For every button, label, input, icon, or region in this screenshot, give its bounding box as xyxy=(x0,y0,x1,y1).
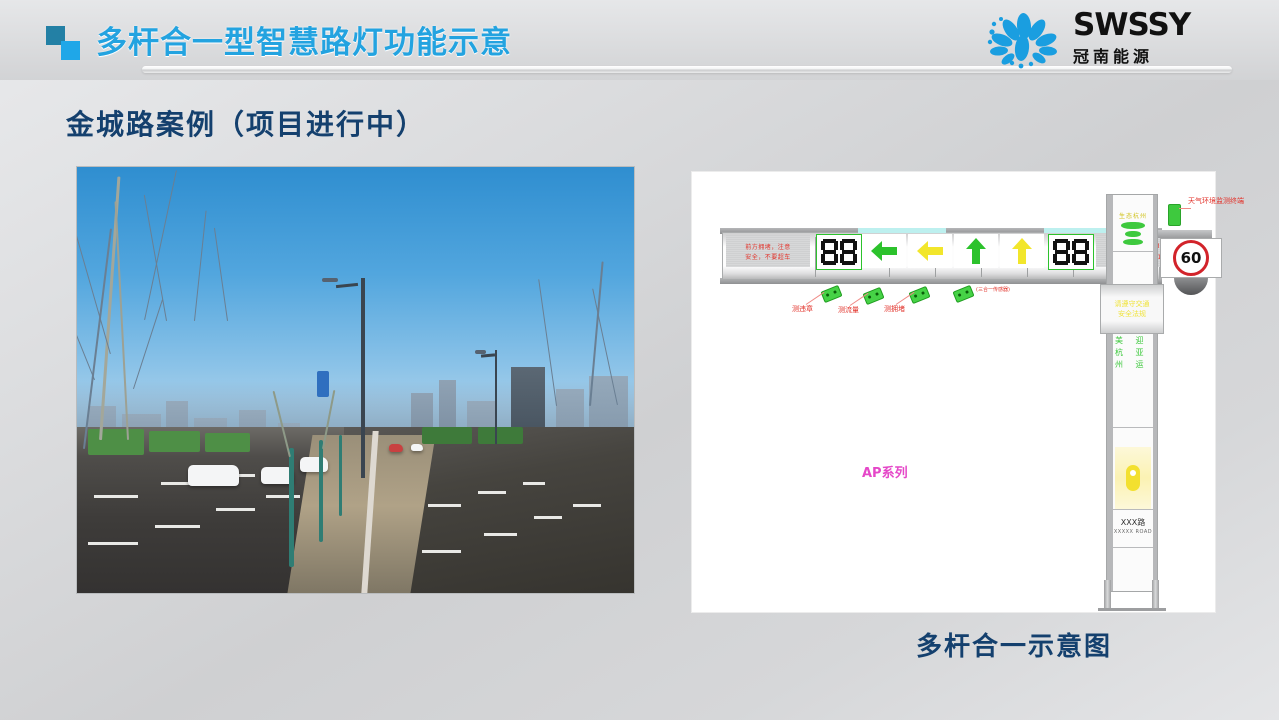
dome-camera-icon xyxy=(1174,278,1208,295)
digit-8 xyxy=(1053,239,1070,265)
multi-pole-diagram: 前方拥堵，注意 安全，不要超车 xyxy=(692,172,1215,612)
far-car-2 xyxy=(411,444,423,451)
eco-graphic xyxy=(1121,222,1145,229)
traffic-notice-line2: 安全法规 xyxy=(1118,309,1146,319)
eco-banner-title: 生态杭州 xyxy=(1119,211,1147,220)
arrow-up-green xyxy=(954,234,998,268)
two-squares-icon xyxy=(46,26,80,60)
traffic-notice-line1: 请遵守交通 xyxy=(1115,299,1150,309)
street-name-cn: XXX路 xyxy=(1113,517,1153,528)
smart-pole: 生态杭州 大美杭州 喜迎亚运 XXX路 XXXXX R xyxy=(1106,194,1158,592)
weather-callout-line xyxy=(1179,208,1191,209)
sensor-combo-label: (三合一传感器) xyxy=(976,286,1010,293)
logo-text: SWSSY 冠南能源 xyxy=(1073,10,1190,67)
sensor-callout-label: 测拥堵 xyxy=(884,304,905,314)
street-name-en: XXXXX ROAD xyxy=(1113,529,1153,535)
swssy-petal-logo-icon xyxy=(981,10,1067,70)
photo-street-lamp xyxy=(361,278,365,478)
logo-subtitle: 冠南能源 xyxy=(1073,43,1190,67)
luminaire-panel xyxy=(1115,447,1151,509)
logo-name: SWSSY xyxy=(1073,10,1190,40)
pole-base xyxy=(1096,580,1168,614)
white-car-1 xyxy=(188,465,238,486)
weather-sensor-label: 天气环境监测终端 xyxy=(1188,196,1244,206)
ap-series-label: AP系列 xyxy=(862,462,908,481)
page-title: 多杆合一型智慧路灯功能示意 xyxy=(96,17,512,62)
sensor-callout-label: 测流量 xyxy=(838,305,859,315)
eco-graphic xyxy=(1125,231,1141,237)
diagram-caption: 多杆合一示意图 xyxy=(916,626,1112,663)
digit-8 xyxy=(821,239,838,265)
arrow-up-yellow xyxy=(1000,234,1044,268)
gantry-top-strip-left xyxy=(858,228,946,233)
led-message-line2: 安全，不要超车 xyxy=(745,252,791,261)
slide-header: 多杆合一型智慧路灯功能示意 xyxy=(0,0,1279,80)
road-photo xyxy=(76,166,635,594)
led-message-board: 前方拥堵，注意 安全，不要超车 xyxy=(726,235,810,267)
countdown-display-right xyxy=(1048,234,1094,270)
countdown-display-left xyxy=(816,234,862,270)
arrow-left-yellow xyxy=(908,234,952,268)
arrow-left-green xyxy=(862,234,906,268)
slide-subtitle: 金城路案例（项目进行中） xyxy=(66,103,426,143)
sensor-icon xyxy=(820,285,842,303)
traffic-notice-band: 请遵守交通 安全法规 xyxy=(1100,284,1164,334)
company-logo: SWSSY 冠南能源 xyxy=(981,8,1231,72)
eco-graphic xyxy=(1123,239,1143,245)
square-light xyxy=(61,41,80,60)
sign-arm xyxy=(1156,230,1212,238)
eco-banner: 生态杭州 xyxy=(1115,205,1151,251)
far-car xyxy=(389,444,403,452)
speed-limit-signbox: 60 xyxy=(1160,238,1222,278)
digit-8 xyxy=(1072,239,1089,265)
digit-8 xyxy=(840,239,857,265)
lamp-icon xyxy=(1126,465,1140,491)
sensor-icon xyxy=(862,287,884,305)
street-name-plate: XXX路 XXXXX ROAD xyxy=(1113,517,1153,535)
sensor-callout-label: 测违章 xyxy=(792,304,813,314)
speed-limit-sign: 60 xyxy=(1173,240,1209,276)
sensor-icon xyxy=(908,286,930,304)
sensor-icon xyxy=(952,285,974,303)
white-car-3 xyxy=(300,457,328,472)
led-message-line1: 前方拥堵，注意 xyxy=(745,242,791,251)
